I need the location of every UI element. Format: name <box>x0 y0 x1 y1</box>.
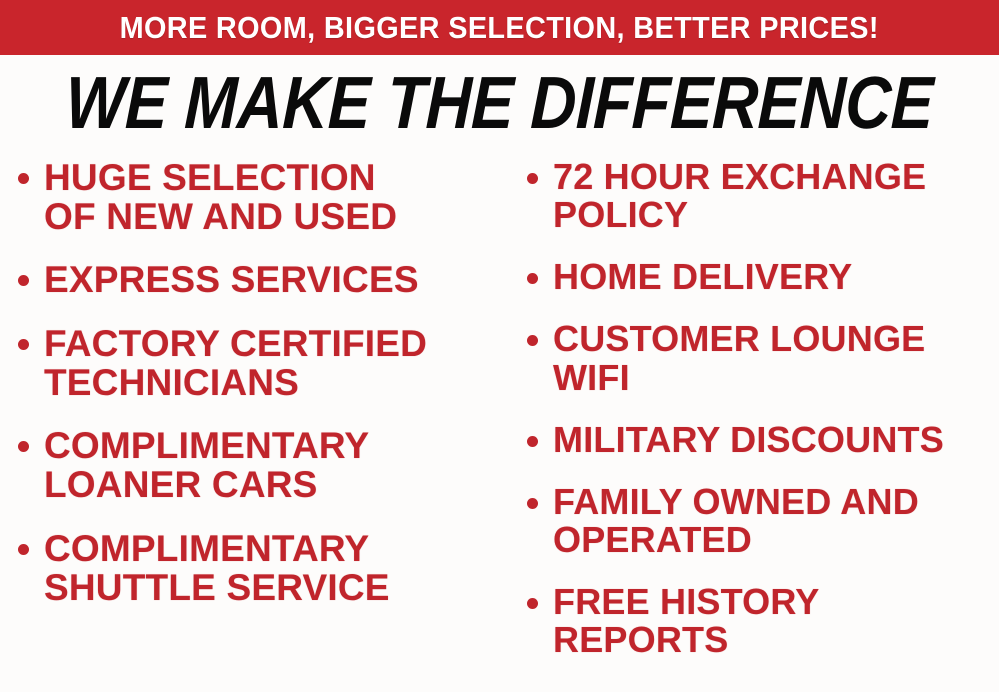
list-item: COMPLIMENTARY LOANER CARS <box>18 426 505 504</box>
list-item-label: COMPLIMENTARY SHUTTLE SERVICE <box>44 529 390 607</box>
bullet-dot-icon <box>18 339 29 350</box>
features-columns: HUGE SELECTION OF NEW AND USED EXPRESS S… <box>0 158 999 692</box>
list-item-label: MILITARY DISCOUNTS <box>553 421 944 459</box>
bullet-dot-icon <box>18 441 29 452</box>
list-item-label: FAMILY OWNED AND OPERATED <box>553 483 919 559</box>
top-red-banner: MORE ROOM, BIGGER SELECTION, BETTER PRIC… <box>0 0 999 55</box>
list-item-label: HUGE SELECTION OF NEW AND USED <box>44 158 397 236</box>
list-item-label: 72 HOUR EXCHANGE POLICY <box>553 158 926 234</box>
bullet-dot-icon <box>527 498 538 509</box>
list-item-label: HOME DELIVERY <box>553 258 852 296</box>
list-item: HOME DELIVERY <box>527 258 999 296</box>
features-column-left: HUGE SELECTION OF NEW AND USED EXPRESS S… <box>0 158 505 692</box>
bullet-dot-icon <box>18 173 29 184</box>
list-item-label: FACTORY CERTIFIED TECHNICIANS <box>44 324 427 402</box>
promotional-banner: MORE ROOM, BIGGER SELECTION, BETTER PRIC… <box>0 0 999 692</box>
bullet-dot-icon <box>527 436 538 447</box>
bullet-dot-icon <box>18 544 29 555</box>
features-column-right: 72 HOUR EXCHANGE POLICY HOME DELIVERY CU… <box>505 158 999 692</box>
list-item-label: CUSTOMER LOUNGE WIFI <box>553 320 925 396</box>
list-item: COMPLIMENTARY SHUTTLE SERVICE <box>18 529 505 607</box>
list-item: HUGE SELECTION OF NEW AND USED <box>18 158 505 236</box>
list-item: FREE HISTORY REPORTS <box>527 583 999 659</box>
bullet-dot-icon <box>527 335 538 346</box>
bullet-dot-icon <box>527 273 538 284</box>
list-item: MILITARY DISCOUNTS <box>527 421 999 459</box>
list-item-label: EXPRESS SERVICES <box>44 260 419 299</box>
page-title: WE MAKE THE DIFFERENCE <box>65 66 935 140</box>
list-item: EXPRESS SERVICES <box>18 260 505 299</box>
bullet-dot-icon <box>527 173 538 184</box>
bullet-dot-icon <box>527 598 538 609</box>
list-item: 72 HOUR EXCHANGE POLICY <box>527 158 999 234</box>
bullet-dot-icon <box>18 275 29 286</box>
list-item-label: FREE HISTORY REPORTS <box>553 583 819 659</box>
list-item: FACTORY CERTIFIED TECHNICIANS <box>18 324 505 402</box>
list-item: CUSTOMER LOUNGE WIFI <box>527 320 999 396</box>
top-banner-text: MORE ROOM, BIGGER SELECTION, BETTER PRIC… <box>120 12 879 43</box>
list-item-label: COMPLIMENTARY LOANER CARS <box>44 426 369 504</box>
headline-container: WE MAKE THE DIFFERENCE <box>0 62 999 144</box>
list-item: FAMILY OWNED AND OPERATED <box>527 483 999 559</box>
